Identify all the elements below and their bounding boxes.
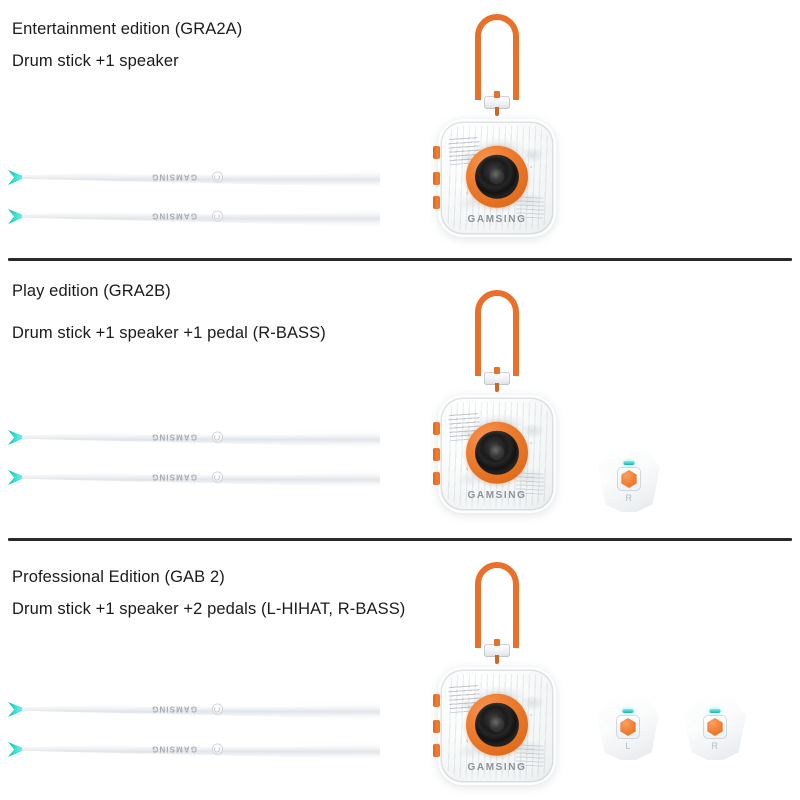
speaker-body[interactable]: GAMSING — [438, 119, 556, 237]
entertainment-edition-title: Entertainment edition (GRA2A) — [12, 20, 242, 40]
speaker-side-button[interactable] — [433, 694, 440, 707]
play-edition-title: Play edition (GRA2B) — [12, 282, 326, 302]
entertainment-edition-contents: Drum stick +1 speaker — [12, 52, 242, 72]
pedal-l-hihat[interactable]: L — [597, 696, 659, 760]
drumstick-body: GAMSING — [22, 205, 380, 227]
speaker-lanyard — [436, 14, 558, 114]
section-divider — [8, 258, 792, 261]
drumstick: GAMSING — [8, 738, 380, 760]
entertainment-title-block: Entertainment edition (GRA2A) Drum stick… — [12, 20, 242, 72]
drumstick-power-button[interactable] — [212, 432, 223, 443]
drumstick-power-button[interactable] — [212, 172, 223, 183]
speaker-unit: GAMSING — [436, 14, 558, 236]
pedal-trigger-button[interactable] — [707, 718, 724, 736]
speaker-unit: GAMSING — [436, 562, 558, 784]
speaker-driver-cone — [475, 155, 519, 199]
speaker-side-button[interactable] — [433, 720, 440, 733]
drumstick-brand-label: GAMSING — [151, 705, 197, 714]
pedal-r-bass[interactable]: R — [684, 696, 746, 760]
speaker-driver-dome — [490, 169, 505, 184]
speaker-body[interactable]: GAMSING — [438, 667, 556, 785]
section-play: Play edition (GRA2B) Drum stick +1 speak… — [0, 262, 800, 538]
pedal-status-led — [710, 709, 721, 713]
speaker-driver-cone — [475, 431, 519, 475]
pedal-status-led — [623, 709, 634, 713]
speaker-brand-label: GAMSING — [468, 214, 527, 225]
speaker-brand-label: GAMSING — [468, 490, 527, 501]
lanyard-strap — [475, 290, 519, 376]
drumstick-shaft — [22, 166, 380, 188]
lanyard-clasp — [484, 372, 510, 385]
speaker-side-button[interactable] — [433, 146, 440, 159]
speaker-unit: GAMSING — [436, 290, 558, 512]
drumstick: GAMSING — [8, 426, 380, 448]
speaker-brand-label: GAMSING — [468, 762, 527, 773]
speaker-side-button[interactable] — [433, 422, 440, 435]
drumstick-shaft — [22, 466, 380, 488]
drumstick-shaft — [22, 698, 380, 720]
speaker-driver-ring — [466, 422, 528, 484]
section-entertainment: Entertainment edition (GRA2A) Drum stick… — [0, 0, 800, 253]
drumstick-shaft — [22, 426, 380, 448]
speaker-side-button[interactable] — [433, 744, 440, 757]
speaker-side-button[interactable] — [433, 172, 440, 185]
drumstick-brand-label: GAMSING — [151, 473, 197, 482]
speaker-driver-dome — [490, 445, 505, 460]
speaker-driver-ring — [466, 694, 528, 756]
drumstick: GAMSING — [8, 205, 380, 227]
professional-edition-contents: Drum stick +1 speaker +2 pedals (L-HIHAT… — [12, 600, 405, 620]
drumstick-power-button[interactable] — [212, 472, 223, 483]
drumstick-body: GAMSING — [22, 166, 380, 188]
lanyard-clasp — [484, 644, 510, 657]
drumstick-body: GAMSING — [22, 426, 380, 448]
product-comparison-page: Entertainment edition (GRA2A) Drum stick… — [0, 0, 800, 800]
drumstick-brand-label: GAMSING — [151, 212, 197, 221]
section-professional: Professional Edition (GAB 2) Drum stick … — [0, 540, 800, 800]
lanyard-strap — [475, 562, 519, 648]
pedal-r-bass[interactable]: R — [598, 448, 660, 512]
pedal-button-well — [616, 715, 640, 739]
pedal-button-well — [617, 467, 641, 491]
drumstick-brand-label: GAMSING — [151, 433, 197, 442]
drumstick-shaft — [22, 205, 380, 227]
drumstick-brand-label: GAMSING — [151, 745, 197, 754]
drumstick-body: GAMSING — [22, 466, 380, 488]
speaker-lanyard — [436, 290, 558, 390]
pedal-button-well — [703, 715, 727, 739]
speaker-driver-ring — [466, 146, 528, 208]
pedal-side-label: R — [626, 493, 633, 503]
drumstick-body: GAMSING — [22, 738, 380, 760]
play-edition-contents: Drum stick +1 speaker +1 pedal (R-BASS) — [12, 324, 326, 344]
drumstick-power-button[interactable] — [212, 211, 223, 222]
speaker-side-button[interactable] — [433, 472, 440, 485]
drumstick-body: GAMSING — [22, 698, 380, 720]
pedal-trigger-button[interactable] — [621, 470, 638, 488]
speaker-driver-dome — [490, 717, 505, 732]
drumstick: GAMSING — [8, 166, 380, 188]
speaker-side-button[interactable] — [433, 448, 440, 461]
pedal-side-label: R — [712, 741, 719, 751]
drumstick: GAMSING — [8, 698, 380, 720]
drumstick: GAMSING — [8, 466, 380, 488]
professional-edition-title: Professional Edition (GAB 2) — [12, 568, 405, 588]
lanyard-strap — [475, 14, 519, 100]
drumstick-shaft — [22, 738, 380, 760]
play-title-block: Play edition (GRA2B) Drum stick +1 speak… — [12, 282, 326, 344]
lanyard-clasp — [484, 96, 510, 109]
professional-title-block: Professional Edition (GAB 2) Drum stick … — [12, 568, 405, 620]
pedal-side-label: L — [625, 741, 630, 751]
speaker-body[interactable]: GAMSING — [438, 395, 556, 513]
drumstick-power-button[interactable] — [212, 704, 223, 715]
drumstick-power-button[interactable] — [212, 744, 223, 755]
pedal-trigger-button[interactable] — [620, 718, 637, 736]
pedal-status-led — [624, 461, 635, 465]
speaker-lanyard — [436, 562, 558, 662]
drumstick-brand-label: GAMSING — [151, 173, 197, 182]
speaker-side-button[interactable] — [433, 196, 440, 209]
speaker-driver-cone — [475, 703, 519, 747]
